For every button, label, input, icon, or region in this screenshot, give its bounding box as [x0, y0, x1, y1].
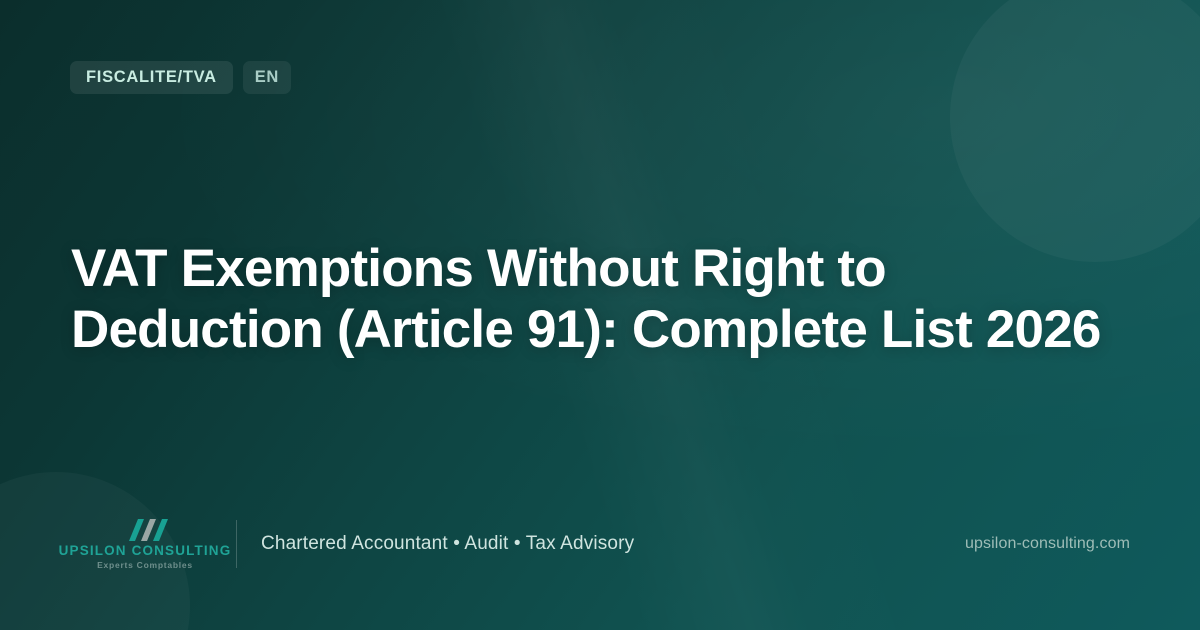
footer-divider	[236, 520, 237, 568]
page-title: VAT Exemptions Without Right to Deductio…	[71, 238, 1131, 360]
services-list: Chartered Accountant • Audit • Tax Advis…	[261, 533, 634, 555]
brand-name: UPSILON CONSULTING	[59, 544, 232, 558]
og-share-card: FISCALITE/TVA EN VAT Exemptions Without …	[0, 0, 1200, 630]
badge-row: FISCALITE/TVA EN	[70, 61, 291, 94]
category-badge[interactable]: FISCALITE/TVA	[70, 61, 233, 94]
footer: UPSILON CONSULTING Experts Comptables Ch…	[70, 512, 1130, 576]
brand-tagline: Experts Comptables	[97, 561, 193, 570]
brand-logo: UPSILON CONSULTING Experts Comptables	[70, 519, 220, 570]
decorative-circle-top-right	[950, 0, 1200, 262]
site-url[interactable]: upsilon-consulting.com	[965, 535, 1130, 553]
upsilon-bars-icon	[119, 519, 171, 541]
language-badge[interactable]: EN	[243, 61, 291, 94]
